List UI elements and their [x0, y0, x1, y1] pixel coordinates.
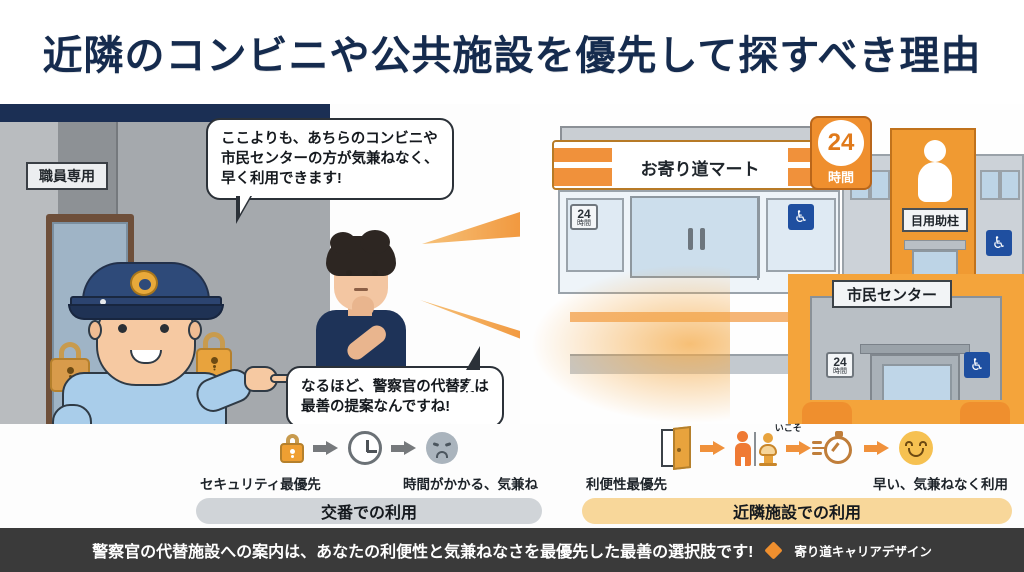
- wheelchair-access-icon: ♿: [964, 352, 990, 378]
- store-24h-tag: 24 時間: [570, 204, 598, 230]
- office-window: [1000, 170, 1020, 200]
- office-sign: 目用助柱: [902, 208, 968, 232]
- store-name: お寄り道マート: [641, 155, 760, 180]
- koban-caption-1: セキュリティ最優先: [200, 473, 321, 493]
- koban-captions: セキュリティ最優先 時間がかかる、気兼ね: [196, 473, 542, 493]
- bubble-tail: [236, 196, 266, 224]
- clock-icon: [348, 431, 382, 465]
- restroom-icon: いこそ: [735, 431, 778, 466]
- officer-speech-bubble: ここよりも、あちらのコンビニや 市民センターの方が気兼ねなく、 早く利用できます…: [206, 118, 454, 200]
- arrow-right-gray-icon: [313, 441, 339, 455]
- koban-icon-flow: [196, 424, 542, 472]
- nearby-captions: 利便性最優先 早い、気兼ねなく利用: [582, 473, 1012, 493]
- wheelchair-access-icon: ♿: [986, 230, 1012, 256]
- officer-cap-brim: [68, 304, 224, 320]
- man-hair-curl-left: [330, 232, 356, 254]
- tag-unit: 時間: [833, 368, 847, 375]
- officer-ear-left: [88, 320, 102, 340]
- civic-planter-right: [960, 402, 1010, 424]
- koban-comparison-column: セキュリティ最優先 時間がかかる、気兼ね 交番での利用: [196, 424, 542, 524]
- officer-ear-right: [188, 320, 202, 340]
- officer-eye-left: [118, 324, 127, 333]
- nearby-comparison-column: いこそ 利便性最優先 早い、気兼ねなく利用 近隣施設での利用: [582, 424, 1012, 524]
- man-eye-left: [346, 270, 352, 276]
- police-cap-emblem-icon: [130, 270, 158, 296]
- nearby-pill-label: 近隣施設での利用: [582, 498, 1012, 524]
- man-eye-right: [372, 270, 378, 276]
- title-bar: 近隣のコンビニや公共施設を優先して探すべき理由: [0, 0, 1024, 104]
- store-name-plate: お寄り道マート: [612, 146, 788, 188]
- nearby-caption-2: 早い、気兼ねなく利用: [873, 473, 1008, 493]
- man-bubble-line-2: 最善の提案なんですね!: [301, 397, 489, 417]
- officer-bubble-line-3: 早く利用できます!: [221, 169, 439, 189]
- tag-number: 24: [577, 208, 590, 220]
- nearby-caption-1: 利便性最優先: [586, 473, 667, 493]
- lock-icon: [280, 434, 304, 463]
- comparison-section: セキュリティ最優先 時間がかかる、気兼ね 交番での利用 いこそ: [0, 424, 1024, 528]
- office-awning: [904, 240, 966, 250]
- door-divider: [757, 198, 759, 280]
- civic-center-building: 24 時間 ♿ 市民センター: [788, 274, 1024, 424]
- arrow-right-gray-icon: [391, 441, 417, 455]
- koban-caption-2: 時間がかかる、気兼ね: [403, 473, 538, 493]
- tag-number: 24: [833, 356, 846, 368]
- arrow-right-orange-icon: [786, 441, 812, 455]
- wheelchair-access-icon: ♿: [788, 204, 814, 230]
- restroom-note: いこそ: [775, 421, 802, 434]
- man-hand-on-chin: [352, 296, 374, 316]
- nearby-icon-flow: いこそ: [582, 424, 1012, 472]
- arrow-right-orange-icon: [864, 441, 890, 455]
- officer-bubble-line-2: 市民センターの方が気兼ねなく、: [221, 149, 439, 169]
- civic-planter-left: [802, 402, 852, 424]
- open-door-icon: [661, 429, 691, 467]
- happy-face-icon: [899, 431, 933, 465]
- officer-bubble-line-1: ここよりも、あちらのコンビニや: [221, 129, 439, 149]
- stopwatch-icon: [821, 431, 855, 465]
- koban-pill-label: 交番での利用: [196, 498, 542, 524]
- person-pictogram-body-icon: [918, 162, 952, 202]
- person-pictogram-head-icon: [924, 140, 946, 162]
- brand-name: 寄り道キャリアデザイン: [794, 541, 932, 560]
- civic-center-sign: 市民センター: [832, 280, 952, 308]
- man-mouth: [354, 288, 368, 291]
- badge-number: 24: [818, 120, 864, 166]
- man-speech-bubble: なるほど、警察官の代替案は 最善の提案なんですね!: [286, 366, 504, 428]
- office-window: [980, 170, 1000, 200]
- civic-entry-header: [860, 344, 970, 354]
- glowing-path: [530, 264, 730, 424]
- store-signboard: お寄り道マート: [552, 140, 844, 190]
- staff-only-sign: 職員専用: [26, 162, 108, 190]
- footer-bar: 警察官の代替施設への案内は、あなたの利便性と気兼ねなさを最優先した最善の選択肢で…: [0, 528, 1024, 572]
- thinking-man-illustration: [296, 226, 420, 374]
- store-24h-badge: 24 時間: [810, 116, 872, 190]
- officer-eye-right: [160, 324, 169, 333]
- page-title: 近隣のコンビニや公共施設を優先して探すべき理由: [43, 23, 982, 81]
- pictogram-divider: [754, 432, 757, 466]
- sad-face-icon: [426, 432, 458, 464]
- man-hair-curl-right: [360, 230, 390, 254]
- infographic-canvas: 近隣のコンビニや公共施設を優先して探すべき理由 職員専用 ロック Saito: [0, 0, 1024, 572]
- toilet-icon: [759, 433, 777, 466]
- office-window: [870, 170, 890, 200]
- person-pictogram-icon: [735, 431, 751, 466]
- footer-message: 警察官の代替施設への案内は、あなたの利便性と気兼ねなさを最優先した最善の選択肢で…: [92, 538, 753, 562]
- civic-24h-tag: 24 時間: [826, 352, 854, 378]
- diamond-logo-icon: [765, 541, 783, 559]
- tag-unit: 時間: [577, 220, 591, 227]
- badge-unit: 時間: [828, 167, 854, 186]
- arrow-right-orange-icon: [700, 441, 726, 455]
